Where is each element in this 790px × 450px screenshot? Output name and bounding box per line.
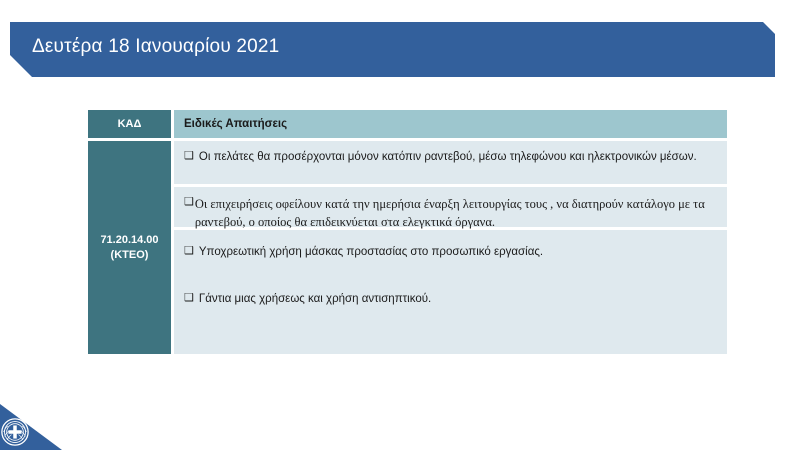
checkbox-bullet-icon: ❑ xyxy=(184,149,194,165)
list-item-text: Γάντια μιας χρήσεως και χρήση αντισηπτικ… xyxy=(199,291,713,308)
table-column-requirements: Ειδικές Απαιτήσεις ❑ Οι πελάτες θα προσέ… xyxy=(174,110,727,354)
kad-code: 71.20.14.00 xyxy=(100,233,158,248)
table-cell-kad-value: 71.20.14.00 (ΚΤΕΟ) xyxy=(88,141,171,354)
list-item: ❑ Οι επιχειρήσεις οφείλουν κατά την ημερ… xyxy=(184,195,713,231)
table-row: ❑ Οι πελάτες θα προσέρχονται μόνον κατόπ… xyxy=(174,141,727,184)
checkbox-bullet-icon: ❑ xyxy=(184,195,194,211)
hellenic-republic-emblem-icon xyxy=(1,418,29,446)
page-title: Δευτέρα 18 Ιανουαρίου 2021 xyxy=(32,36,279,58)
list-item-text: Οι επιχειρήσεις οφείλουν κατά την ημερήσ… xyxy=(195,195,713,231)
table-header-kad: ΚΑΔ xyxy=(88,110,171,138)
table-row: ❑ Υποχρεωτική χρήση μάσκας προστασίας στ… xyxy=(174,230,727,354)
table-column-kad: ΚΑΔ 71.20.14.00 (ΚΤΕΟ) xyxy=(88,110,171,354)
checkbox-bullet-icon: ❑ xyxy=(184,291,194,307)
list-item: ❑ Γάντια μιας χρήσεως και χρήση αντισηπτ… xyxy=(184,291,713,308)
footer-corner-mark xyxy=(0,404,62,450)
list-item-text: Υποχρεωτική χρήση μάσκας προστασίας στο … xyxy=(199,244,713,261)
list-item: ❑ Οι πελάτες θα προσέρχονται μόνον κατόπ… xyxy=(184,149,713,166)
list-item-text: Οι πελάτες θα προσέρχονται μόνον κατόπιν… xyxy=(199,149,713,166)
requirements-table: ΚΑΔ 71.20.14.00 (ΚΤΕΟ) Ειδικές Απαιτήσει… xyxy=(88,110,727,354)
list-item: ❑ Υποχρεωτική χρήση μάσκας προστασίας στ… xyxy=(184,244,713,261)
slide-title-banner: Δευτέρα 18 Ιανουαρίου 2021 xyxy=(10,22,775,77)
table-header-requirements: Ειδικές Απαιτήσεις xyxy=(174,110,727,138)
kad-name: (ΚΤΕΟ) xyxy=(111,248,149,263)
checkbox-bullet-icon: ❑ xyxy=(184,244,194,260)
table-row: ❑ Οι επιχειρήσεις οφείλουν κατά την ημερ… xyxy=(174,187,727,227)
